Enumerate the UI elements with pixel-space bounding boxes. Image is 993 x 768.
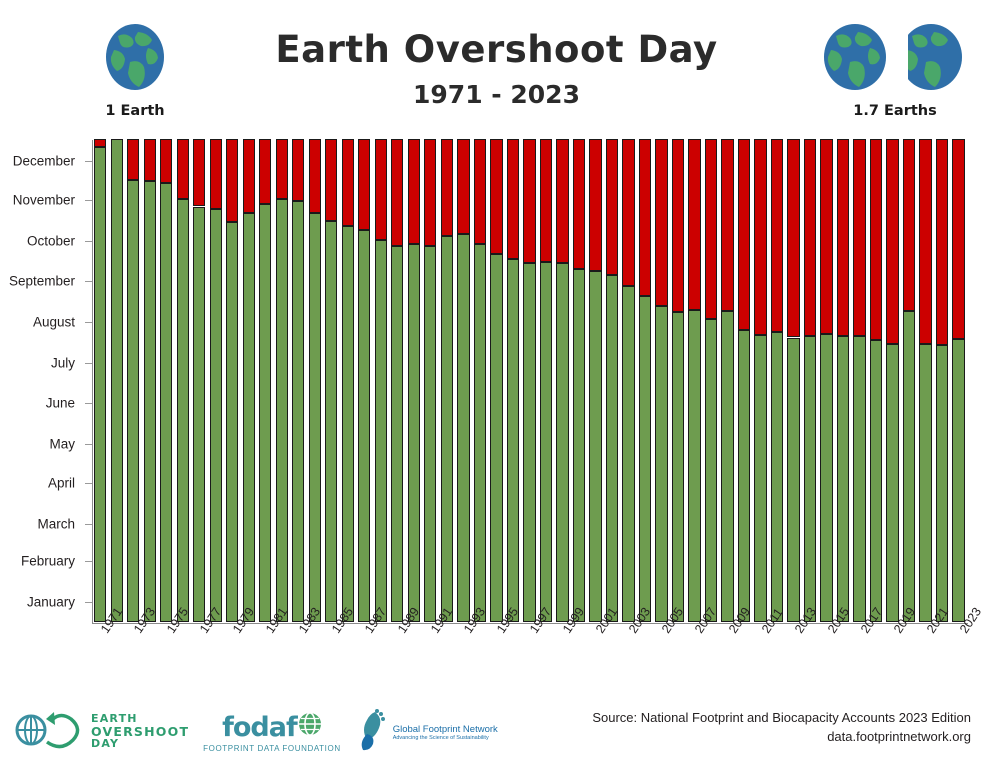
bar-segment-within-budget [94,147,106,622]
bar-2002[interactable] [606,139,618,622]
bar-segment-within-budget [672,312,684,622]
bar-segment-overshoot [441,139,453,236]
y-axis-tick [85,281,92,282]
y-axis-tick [85,241,92,242]
bar-segment-within-budget [457,234,469,622]
bar-segment-overshoot [688,139,700,310]
bar-segment-within-budget [325,221,337,622]
bar-segment-within-budget [738,330,750,622]
bar-segment-overshoot [540,139,552,262]
bar-segment-within-budget [655,306,667,622]
bar-segment-within-budget [490,254,502,622]
bar-segment-within-budget [226,222,238,622]
bar-2006[interactable] [672,139,684,622]
bar-1993[interactable] [457,139,469,622]
logo-row: EARTH OVERSHOOT DAY fodaf [14,702,498,762]
bar-segment-overshoot [226,139,238,222]
bar-segment-overshoot [507,139,519,259]
y-axis-tick [85,363,92,364]
bar-segment-within-budget [160,183,172,622]
bar-segment-overshoot [804,139,816,336]
bar-segment-overshoot [886,139,898,344]
bar-1973[interactable] [127,139,139,622]
bar-segment-overshoot [358,139,370,230]
bar-1997[interactable] [523,139,535,622]
bar-1974[interactable] [144,139,156,622]
bar-2011[interactable] [754,139,766,622]
bar-1982[interactable] [276,139,288,622]
bar-segment-within-budget [837,336,849,622]
y-axis-label-november: November [0,193,75,208]
bar-2010[interactable] [738,139,750,622]
bar-2023[interactable] [952,139,964,622]
y-axis-tick [85,322,92,323]
bar-2016[interactable] [837,139,849,622]
bar-segment-within-budget [177,199,189,622]
bar-segment-overshoot [490,139,502,254]
bar-segment-within-budget [870,340,882,622]
bar-segment-overshoot [523,139,535,263]
bar-segment-overshoot [936,139,948,345]
y-axis: JanuaryFebruaryMarchAprilMayJuneJulyAugu… [0,140,85,622]
bar-segment-overshoot [870,139,882,340]
bar-2020[interactable] [903,139,915,622]
bar-segment-overshoot [589,139,601,271]
y-axis-label-february: February [0,554,75,569]
bar-segment-within-budget [144,181,156,622]
bar-1981[interactable] [259,139,271,622]
bar-2000[interactable] [573,139,585,622]
bar-segment-within-budget [540,262,552,622]
y-axis-tick [85,200,92,201]
y-axis-label-may: May [0,436,75,451]
bar-segment-within-budget [705,319,717,622]
bar-segment-overshoot [639,139,651,296]
earth-overshoot-day-logo[interactable]: EARTH OVERSHOOT DAY [14,709,189,756]
left-earth-caption: 1 Earth [60,103,210,119]
y-axis-tick [85,444,92,445]
bar-segment-within-budget [210,209,222,622]
bar-segment-overshoot [771,139,783,332]
bar-segment-within-budget [243,213,255,622]
bar-1995[interactable] [490,139,502,622]
bar-segment-overshoot [837,139,849,336]
bar-segment-overshoot [193,139,205,206]
gfn-line-1: Global Footprint Network [393,724,498,735]
bar-segment-within-budget [804,336,816,622]
bar-segment-overshoot [853,139,865,336]
bar-segment-overshoot [259,139,271,204]
bar-1987[interactable] [358,139,370,622]
y-axis-tick [85,403,92,404]
bar-2018[interactable] [870,139,882,622]
y-axis-label-july: July [0,355,75,370]
two-earth-globes-icon [822,22,967,92]
bar-segment-within-budget [639,296,651,622]
bar-segment-overshoot [424,139,436,246]
bar-2008[interactable] [705,139,717,622]
bar-segment-within-budget [276,199,288,622]
bar-segment-within-budget [408,244,420,622]
fodafo-word-text: fodaf [222,712,297,743]
bar-segment-overshoot [457,139,469,234]
fodafo-logo[interactable]: fodaf FOOTPRINT DATA FOUNDATION [203,712,341,753]
bar-1978[interactable] [210,139,222,622]
bar-2003[interactable] [622,139,634,622]
bar-1980[interactable] [243,139,255,622]
y-axis-label-june: June [0,395,75,410]
source-line-2: data.footprintnetwork.org [592,727,971,746]
bar-1994[interactable] [474,139,486,622]
bar-1996[interactable] [507,139,519,622]
eod-logo-text: EARTH OVERSHOOT DAY [91,713,189,751]
fodafo-wordmark: fodaf [222,712,322,743]
y-axis-label-september: September [0,273,75,288]
bar-segment-within-budget [309,213,321,622]
global-footprint-network-logo[interactable]: Global Footprint Network Advancing the S… [355,708,498,757]
bar-1985[interactable] [325,139,337,622]
bar-segment-within-budget [936,345,948,622]
chart-footer: EARTH OVERSHOOT DAY fodaf [0,694,993,768]
bar-1971[interactable] [94,139,106,622]
right-earth-caption: 1.7 Earths [820,103,970,119]
bar-2019[interactable] [886,139,898,622]
bar-segment-overshoot [276,139,288,199]
footprint-leaf-icon [355,708,389,757]
bar-1977[interactable] [193,139,205,622]
bar-segment-overshoot [144,139,156,181]
bar-2017[interactable] [853,139,865,622]
bar-segment-overshoot [655,139,667,306]
bar-segment-overshoot [292,139,304,201]
bar-segment-within-budget [375,240,387,622]
bar-1979[interactable] [226,139,238,622]
bar-segment-overshoot [408,139,420,244]
bar-2007[interactable] [688,139,700,622]
bar-1999[interactable] [556,139,568,622]
bar-segment-within-budget [853,336,865,622]
bar-segment-overshoot [672,139,684,312]
y-axis-label-october: October [0,234,75,249]
bar-segment-overshoot [622,139,634,286]
bar-segment-overshoot [177,139,189,199]
bar-segment-within-budget [721,311,733,622]
bar-chart-plot-area [93,140,967,622]
chart-header: Earth Overshoot Day 1971 - 2023 [0,0,993,132]
bar-segment-overshoot [325,139,337,221]
bar-segment-overshoot [556,139,568,263]
bar-segment-within-budget [771,332,783,622]
bar-segment-within-budget [523,263,535,622]
globe-arrow-icon [14,709,84,756]
y-axis-tick [85,483,92,484]
bar-segment-within-budget [787,338,799,623]
bar-segment-overshoot [391,139,403,246]
bar-2015[interactable] [820,139,832,622]
bar-segment-within-budget [556,263,568,622]
bar-segment-within-budget [622,286,634,622]
bar-2014[interactable] [804,139,816,622]
bar-segment-overshoot [309,139,321,213]
bar-segment-overshoot [342,139,354,226]
bar-1986[interactable] [342,139,354,622]
bar-segment-within-budget [507,259,519,622]
source-line-1: Source: National Footprint and Biocapaci… [592,708,971,727]
bar-2009[interactable] [721,139,733,622]
bar-segment-overshoot [94,139,106,147]
bar-segment-within-budget [259,204,271,622]
bar-1983[interactable] [292,139,304,622]
bar-segment-overshoot [606,139,618,275]
bar-segment-overshoot [721,139,733,311]
bar-1992[interactable] [441,139,453,622]
bar-segment-within-budget [754,335,766,622]
bar-segment-within-budget [441,236,453,622]
y-axis-label-december: December [0,153,75,168]
bar-1976[interactable] [177,139,189,622]
bar-segment-overshoot [903,139,915,311]
bar-1989[interactable] [391,139,403,622]
bar-segment-within-budget [474,244,486,622]
bar-1990[interactable] [408,139,420,622]
earth-overshoot-day-chart-page: Earth Overshoot Day 1971 - 2023 [0,0,993,768]
bar-segment-within-budget [688,310,700,622]
bar-1972[interactable] [111,139,123,622]
bar-segment-within-budget [111,139,123,622]
bar-segment-within-budget [127,180,139,622]
y-axis-label-march: March [0,517,75,532]
bar-segment-within-budget [573,269,585,622]
y-axis-tick [85,561,92,562]
y-axis-tick [85,524,92,525]
bar-segment-overshoot [754,139,766,335]
y-axis-tick [85,161,92,162]
bar-2001[interactable] [589,139,601,622]
y-axis-label-april: April [0,476,75,491]
bar-2013[interactable] [787,139,799,622]
bar-segment-within-budget [342,226,354,622]
bar-segment-within-budget [952,339,964,622]
bar-1998[interactable] [540,139,552,622]
bar-2021[interactable] [919,139,931,622]
bar-segment-overshoot [474,139,486,244]
bar-segment-within-budget [886,344,898,622]
bar-segment-overshoot [375,139,387,240]
bar-segment-overshoot [952,139,964,339]
bar-segment-overshoot [787,139,799,337]
bar-segment-within-budget [606,275,618,622]
bar-segment-overshoot [210,139,222,209]
bar-segment-within-budget [193,207,205,623]
bar-2022[interactable] [936,139,948,622]
bar-2005[interactable] [655,139,667,622]
bar-1988[interactable] [375,139,387,622]
gfn-line-2: Advancing the Science of Sustainability [393,735,498,741]
bar-segment-within-budget [292,201,304,622]
bar-segment-overshoot [127,139,139,180]
gfn-logo-text: Global Footprint Network Advancing the S… [393,724,498,741]
bar-segment-within-budget [391,246,403,622]
bar-segment-overshoot [705,139,717,319]
eod-line-3: DAY [91,738,189,751]
bar-segment-within-budget [903,311,915,622]
bar-segment-within-budget [820,334,832,622]
source-attribution: Source: National Footprint and Biocapaci… [592,708,971,746]
bar-1975[interactable] [160,139,172,622]
bar-segment-overshoot [919,139,931,344]
bar-segment-overshoot [573,139,585,269]
y-axis-tick [85,602,92,603]
bar-segment-overshoot [820,139,832,334]
bar-1984[interactable] [309,139,321,622]
y-axis-label-august: August [0,314,75,329]
bar-segment-within-budget [358,230,370,622]
bar-2004[interactable] [639,139,651,622]
bar-segment-overshoot [738,139,750,330]
bar-segment-within-budget [919,344,931,622]
bar-segment-within-budget [424,246,436,622]
globe-o-icon [298,712,322,743]
y-axis-label-january: January [0,595,75,610]
bar-segment-overshoot [160,139,172,183]
bar-segment-overshoot [243,139,255,213]
fodafo-tagline: FOOTPRINT DATA FOUNDATION [203,744,341,753]
bar-2012[interactable] [771,139,783,622]
bar-segment-within-budget [589,271,601,622]
bar-1991[interactable] [424,139,436,622]
